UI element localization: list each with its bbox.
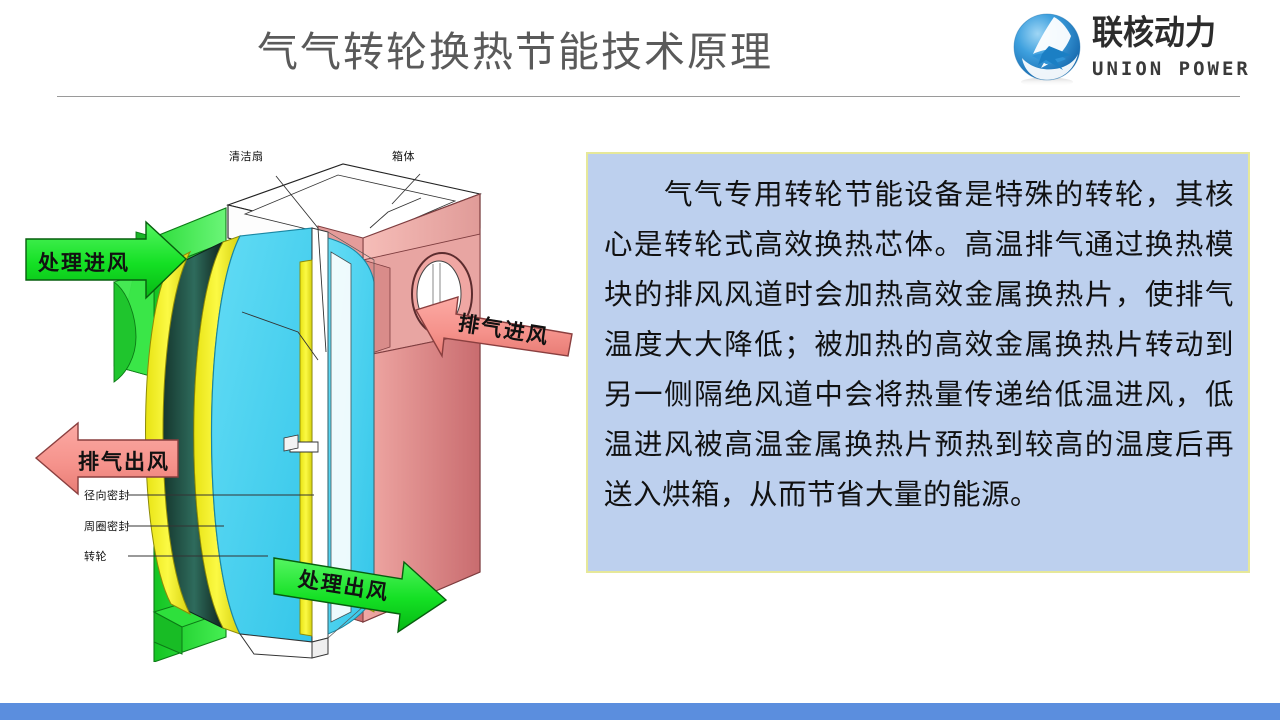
callout-label-radial-seal: 径向密封 [84, 487, 130, 503]
callout-label-circumferential-seal: 周圈密封 [84, 518, 130, 534]
arrow-exhaust-air-in [416, 297, 572, 356]
page-title: 气气转轮换热节能技术原理 [0, 18, 1030, 78]
slide-root: 气气转轮换热节能技术原理 [0, 0, 1280, 720]
callout-label-cabinet: 箱体 [392, 148, 415, 164]
header-divider [57, 96, 1240, 97]
logo-company-name-en: UNION POWER [1092, 57, 1258, 81]
logo-company-name-cn: 联核动力 [1092, 14, 1258, 53]
description-panel: 气气专用转轮节能设备是特殊的转轮，其核心是转轮式高效换热芯体。高温排气通过换热模… [586, 152, 1250, 573]
description-paragraph: 气气专用转轮节能设备是特殊的转轮，其核心是转轮式高效换热芯体。高温排气通过换热模… [588, 154, 1248, 520]
logo-wordmark: 联核动力 UNION POWER [1092, 14, 1258, 86]
company-logo: 联核动力 UNION POWER [1008, 8, 1258, 92]
union-power-globe-icon [1008, 10, 1086, 88]
slide-header: 气气转轮换热节能技术原理 [0, 0, 1280, 100]
callout-label-clean-fan: 清洁扇 [229, 148, 264, 164]
footer-accent-bar [0, 703, 1280, 720]
rotary-heat-exchanger-diagram: 清洁扇 箱体 径向密封 周圈密封 转轮 处理进风 排气进风 排气出风 处理出风 [18, 142, 580, 662]
diagram-svg [18, 142, 580, 662]
callout-label-rotor-wheel: 转轮 [84, 548, 107, 564]
